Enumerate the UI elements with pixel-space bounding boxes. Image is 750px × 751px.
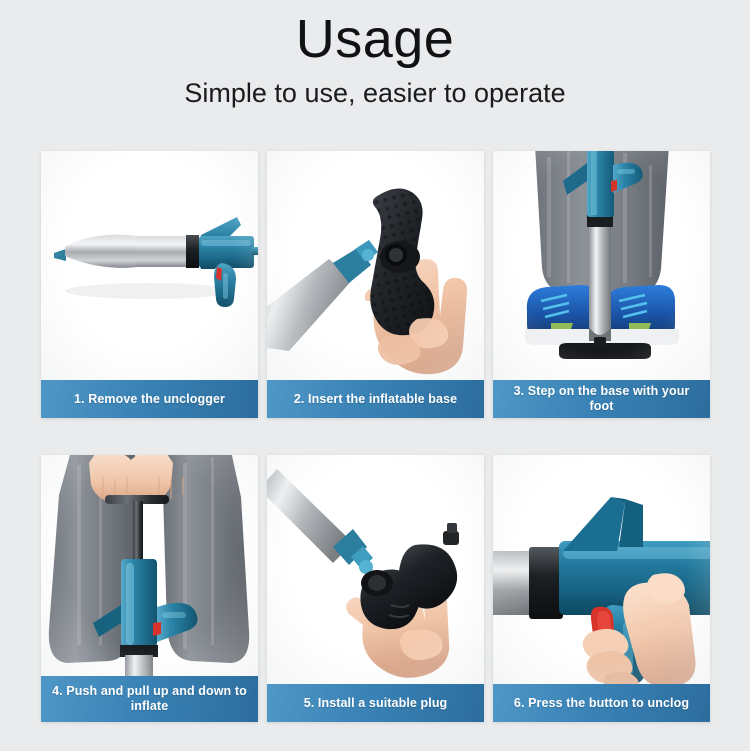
step-6-photo [493, 455, 710, 684]
unclogger-gun-illustration [41, 151, 258, 380]
page-subtitle: Simple to use, easier to operate [0, 76, 750, 110]
step-2-caption: 2. Insert the inflatable base [267, 380, 484, 418]
page-title: Usage [0, 8, 750, 70]
step-3-caption: 3. Step on the base with your foot [493, 380, 710, 418]
usage-step-card-2[interactable]: 2. Insert the inflatable base [267, 151, 484, 418]
inflatable-base-insert-illustration [267, 151, 484, 380]
step-1-caption: 1. Remove the unclogger [41, 380, 258, 418]
step-6-caption: 6. Press the button to unclog [493, 684, 710, 722]
usage-step-card-6[interactable]: 6. Press the button to unclog [493, 455, 710, 722]
install-plug-illustration [267, 455, 484, 684]
page-header: Usage Simple to use, easier to operate [0, 0, 750, 110]
usage-step-card-4[interactable]: 4. Push and pull up and down to inflate [41, 455, 258, 722]
usage-step-card-3[interactable]: 3. Step on the base with your foot [493, 151, 710, 418]
step-on-base-illustration [493, 151, 710, 380]
step-4-caption: 4. Push and pull up and down to inflate [41, 676, 258, 722]
usage-steps-grid: 1. Remove the unclogger [41, 151, 710, 722]
step-1-photo [41, 151, 258, 380]
usage-step-card-5[interactable]: 5. Install a suitable plug [267, 455, 484, 722]
press-trigger-illustration [493, 455, 710, 684]
step-3-photo [493, 151, 710, 380]
step-4-photo [41, 455, 258, 676]
pump-handle-illustration [41, 455, 258, 676]
step-5-photo [267, 455, 484, 684]
step-2-photo [267, 151, 484, 380]
usage-step-card-1[interactable]: 1. Remove the unclogger [41, 151, 258, 418]
step-5-caption: 5. Install a suitable plug [267, 684, 484, 722]
